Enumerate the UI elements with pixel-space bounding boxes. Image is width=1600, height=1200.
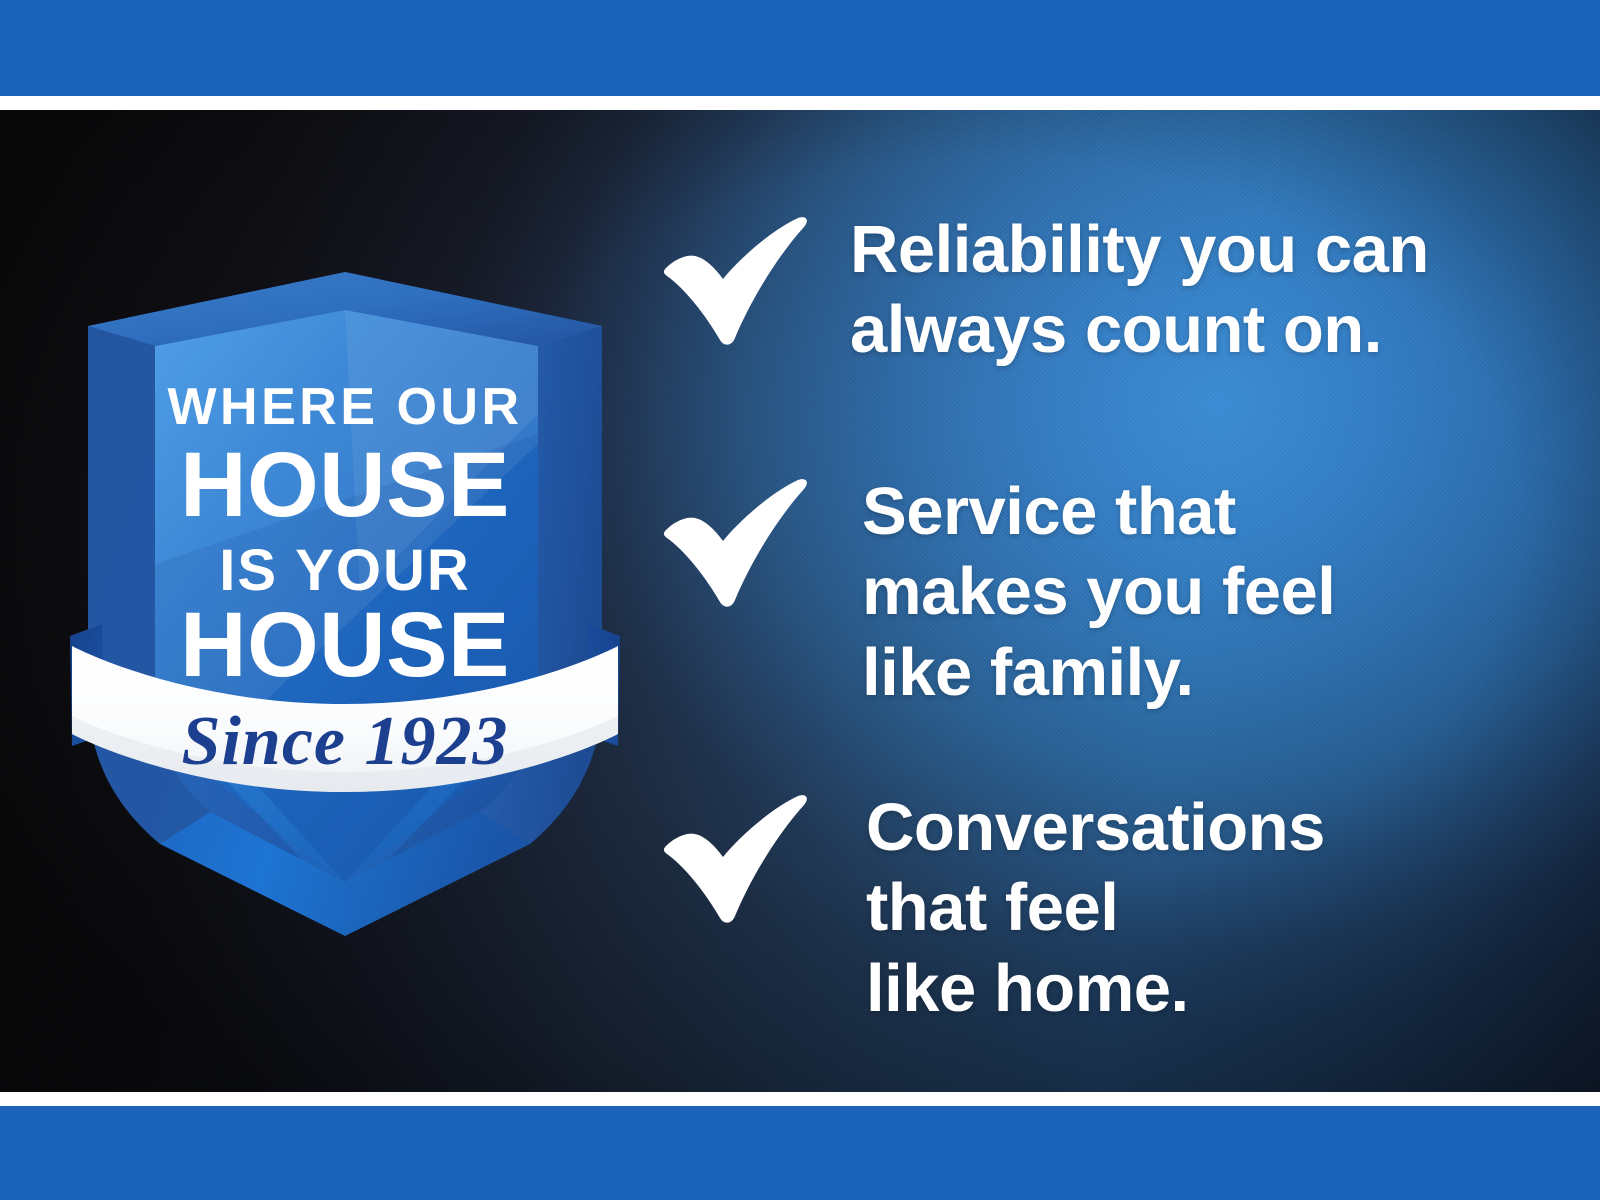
checkmark-icon xyxy=(660,216,810,352)
main-artwork-area: WHERE OUR HOUSE IS YOUR HOUSE Since 1923 xyxy=(0,110,1600,1092)
shield-line-1: WHERE OUR xyxy=(167,378,522,436)
poster-canvas: WHERE OUR HOUSE IS YOUR HOUSE Since 1923 xyxy=(0,0,1600,1200)
list-item-label: Conversations that feel like home. xyxy=(866,788,1540,1029)
shield-logo: WHERE OUR HOUSE IS YOUR HOUSE Since 1923 xyxy=(60,264,630,944)
checkmark-icon xyxy=(660,478,810,614)
checkmark-icon xyxy=(660,794,810,930)
top-brand-bar xyxy=(0,0,1600,96)
shield-line-4: HOUSE xyxy=(180,594,510,696)
bottom-brand-bar xyxy=(0,1106,1600,1200)
shield-line-2: HOUSE xyxy=(180,434,510,536)
list-item: Reliability you can always count on. xyxy=(660,210,1540,371)
list-item: Conversations that feel like home. xyxy=(660,788,1540,1029)
list-item-label: Reliability you can always count on. xyxy=(850,210,1540,371)
list-item-label: Service that makes you feel like family. xyxy=(862,472,1540,713)
ribbon-text: Since 1923 xyxy=(182,703,509,780)
benefits-list: Reliability you can always count on. Ser… xyxy=(660,210,1540,1050)
list-item: Service that makes you feel like family. xyxy=(660,472,1540,713)
